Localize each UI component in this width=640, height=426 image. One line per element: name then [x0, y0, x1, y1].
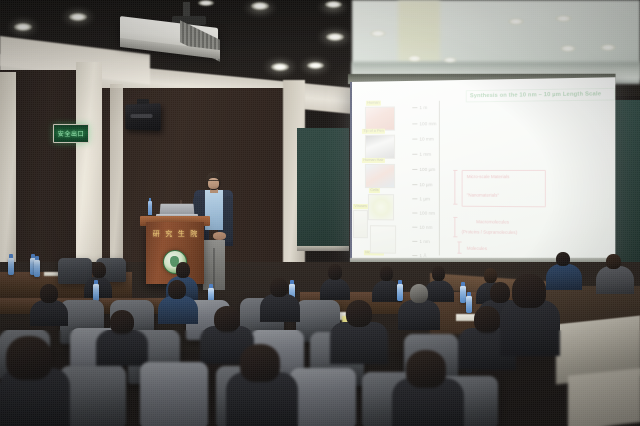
attendee-head — [346, 300, 372, 327]
attendee-head — [490, 282, 510, 303]
downlight — [307, 62, 324, 69]
water-bottle — [8, 258, 14, 275]
scale-tick-label: 100 nm — [419, 210, 435, 215]
tick-mark — [412, 107, 417, 108]
scale-tick-label: 1 m — [419, 104, 427, 109]
attendee-head — [432, 266, 445, 281]
attendee-head — [406, 350, 446, 388]
attendee-head — [6, 336, 52, 380]
downlight — [600, 44, 616, 51]
water-bottle — [148, 201, 152, 215]
loudspeaker-icon — [125, 103, 160, 131]
callout-brace — [454, 217, 455, 237]
downlight — [560, 45, 576, 52]
attendee-head — [474, 306, 500, 333]
tick-mark — [412, 123, 417, 124]
tick-mark — [412, 240, 417, 241]
thumbnail-label: Cells — [369, 188, 380, 193]
downlight — [198, 0, 214, 6]
stage-step — [568, 368, 640, 426]
attendee-shoulders — [260, 294, 300, 322]
tick-mark — [412, 255, 417, 256]
tick-mark — [412, 153, 417, 154]
thumbnail-human — [365, 106, 395, 130]
tick-mark — [412, 212, 417, 213]
ceiling-yellow-panel — [398, 0, 440, 62]
slide-title: Synthesis on the 10 nm – 10 µm Length Sc… — [466, 88, 616, 103]
callout-text: "Nanomaterials" — [467, 192, 499, 197]
lectern-inscription: 研 究 生 院 — [150, 228, 200, 239]
attendee-head — [410, 284, 428, 303]
attendee-head — [176, 262, 190, 278]
presentation-slide: Synthesis on the 10 nm – 10 µm Length Sc… — [352, 77, 615, 266]
tick-mark — [412, 226, 417, 227]
downlight — [326, 33, 344, 41]
attendee-head — [110, 310, 134, 334]
lectern-char: 究 — [165, 229, 172, 239]
thumbnail-label: Human — [366, 101, 381, 106]
water-bottle — [397, 284, 403, 301]
wall-column — [0, 72, 16, 287]
length-scale-axis — [439, 101, 440, 256]
downlight — [443, 57, 457, 63]
attendee-head — [92, 262, 106, 278]
downlight — [325, 1, 342, 8]
thumbnail-label: Tip of a Pen — [362, 129, 385, 134]
tick-mark — [412, 198, 417, 199]
thumbnail-label: Viruses — [353, 204, 368, 209]
water-bottle — [93, 284, 99, 301]
lecture-hall-photo: 安全出口 Synthesis on the 10 nm – 10 µm Leng… — [0, 0, 640, 426]
attendee-shoulders — [596, 266, 634, 294]
attendee-shoulders — [546, 264, 582, 290]
water-bottle — [466, 296, 472, 313]
downlight — [251, 2, 269, 10]
attendee-shoulders — [330, 322, 388, 364]
tick-mark — [412, 184, 417, 185]
callout-brace — [454, 170, 455, 205]
projection-screen: Synthesis on the 10 nm – 10 µm Length Sc… — [350, 77, 615, 266]
scale-tick-label: 100 mm — [419, 121, 436, 126]
scale-tick-label: 1 mm — [419, 151, 431, 156]
attendee-shoulders — [424, 280, 454, 302]
downlight — [370, 30, 386, 37]
callout-text: (Proteins / Supramolecules) — [462, 229, 518, 235]
attendee-head — [168, 280, 186, 299]
eyeglasses-icon — [208, 180, 219, 184]
lectern-char: 院 — [190, 229, 197, 239]
callout-brace — [458, 241, 459, 253]
thumbnail-cells — [368, 194, 394, 220]
attendee-head — [240, 344, 280, 382]
callout-text: Molecules — [467, 246, 487, 251]
attendee-shoulders — [398, 300, 440, 330]
lectern-char: 生 — [178, 229, 185, 239]
exit-sign-label: 安全出口 — [58, 129, 84, 138]
downlight — [69, 13, 87, 21]
attendee-shoulders — [500, 300, 560, 356]
attendee-head — [214, 306, 240, 332]
wall-column — [110, 84, 123, 284]
attendee-head — [556, 252, 570, 266]
scale-tick-label: 10 mm — [419, 136, 433, 141]
scale-tick-label: 100 µm — [419, 166, 435, 171]
thumbnail-label: Human Hair — [362, 158, 385, 163]
tick-mark — [412, 138, 417, 139]
water-bottle — [34, 260, 40, 277]
thumbnail-pen-tip — [365, 135, 395, 159]
attendee-shoulders — [320, 278, 350, 300]
tick-mark — [412, 168, 417, 169]
attendee-head — [328, 264, 342, 280]
callout-text: Macromolecules — [476, 219, 509, 224]
attendee-head — [380, 266, 393, 281]
callout-text: Micro-scale Materials — [467, 174, 510, 179]
downlight — [271, 63, 289, 71]
exit-sign: 安全出口 — [53, 124, 89, 143]
attendee-head — [484, 268, 497, 283]
thumbnail-viruses — [353, 210, 368, 238]
chalkboard-left — [297, 128, 349, 246]
thumbnail-molecules — [370, 225, 396, 254]
downlight — [407, 55, 422, 62]
presenter-trousers — [203, 240, 225, 290]
auditorium-seat — [290, 368, 356, 426]
attendee-shoulders — [158, 296, 198, 324]
handout-paper — [456, 314, 476, 321]
downlight — [555, 15, 572, 22]
attendee-shoulders — [30, 300, 68, 326]
scale-tick-label: 1 µm — [419, 196, 430, 201]
lectern-char: 研 — [153, 229, 160, 239]
auditorium-seat — [140, 362, 208, 426]
scale-tick-label: 1 nm — [419, 238, 429, 243]
thumbnail-hair — [365, 164, 395, 188]
downlight — [508, 18, 524, 25]
presenter-hands — [213, 232, 226, 240]
attendee-head — [512, 274, 546, 308]
attendee-head — [270, 278, 288, 297]
attendee-head — [606, 254, 621, 269]
attendee-head — [40, 284, 58, 303]
scale-tick-label: 10 µm — [419, 182, 432, 187]
downlight — [14, 23, 32, 31]
attendee-shoulders — [96, 330, 148, 366]
chalk-tray — [297, 246, 349, 251]
scale-tick-label: 10 nm — [419, 224, 432, 229]
